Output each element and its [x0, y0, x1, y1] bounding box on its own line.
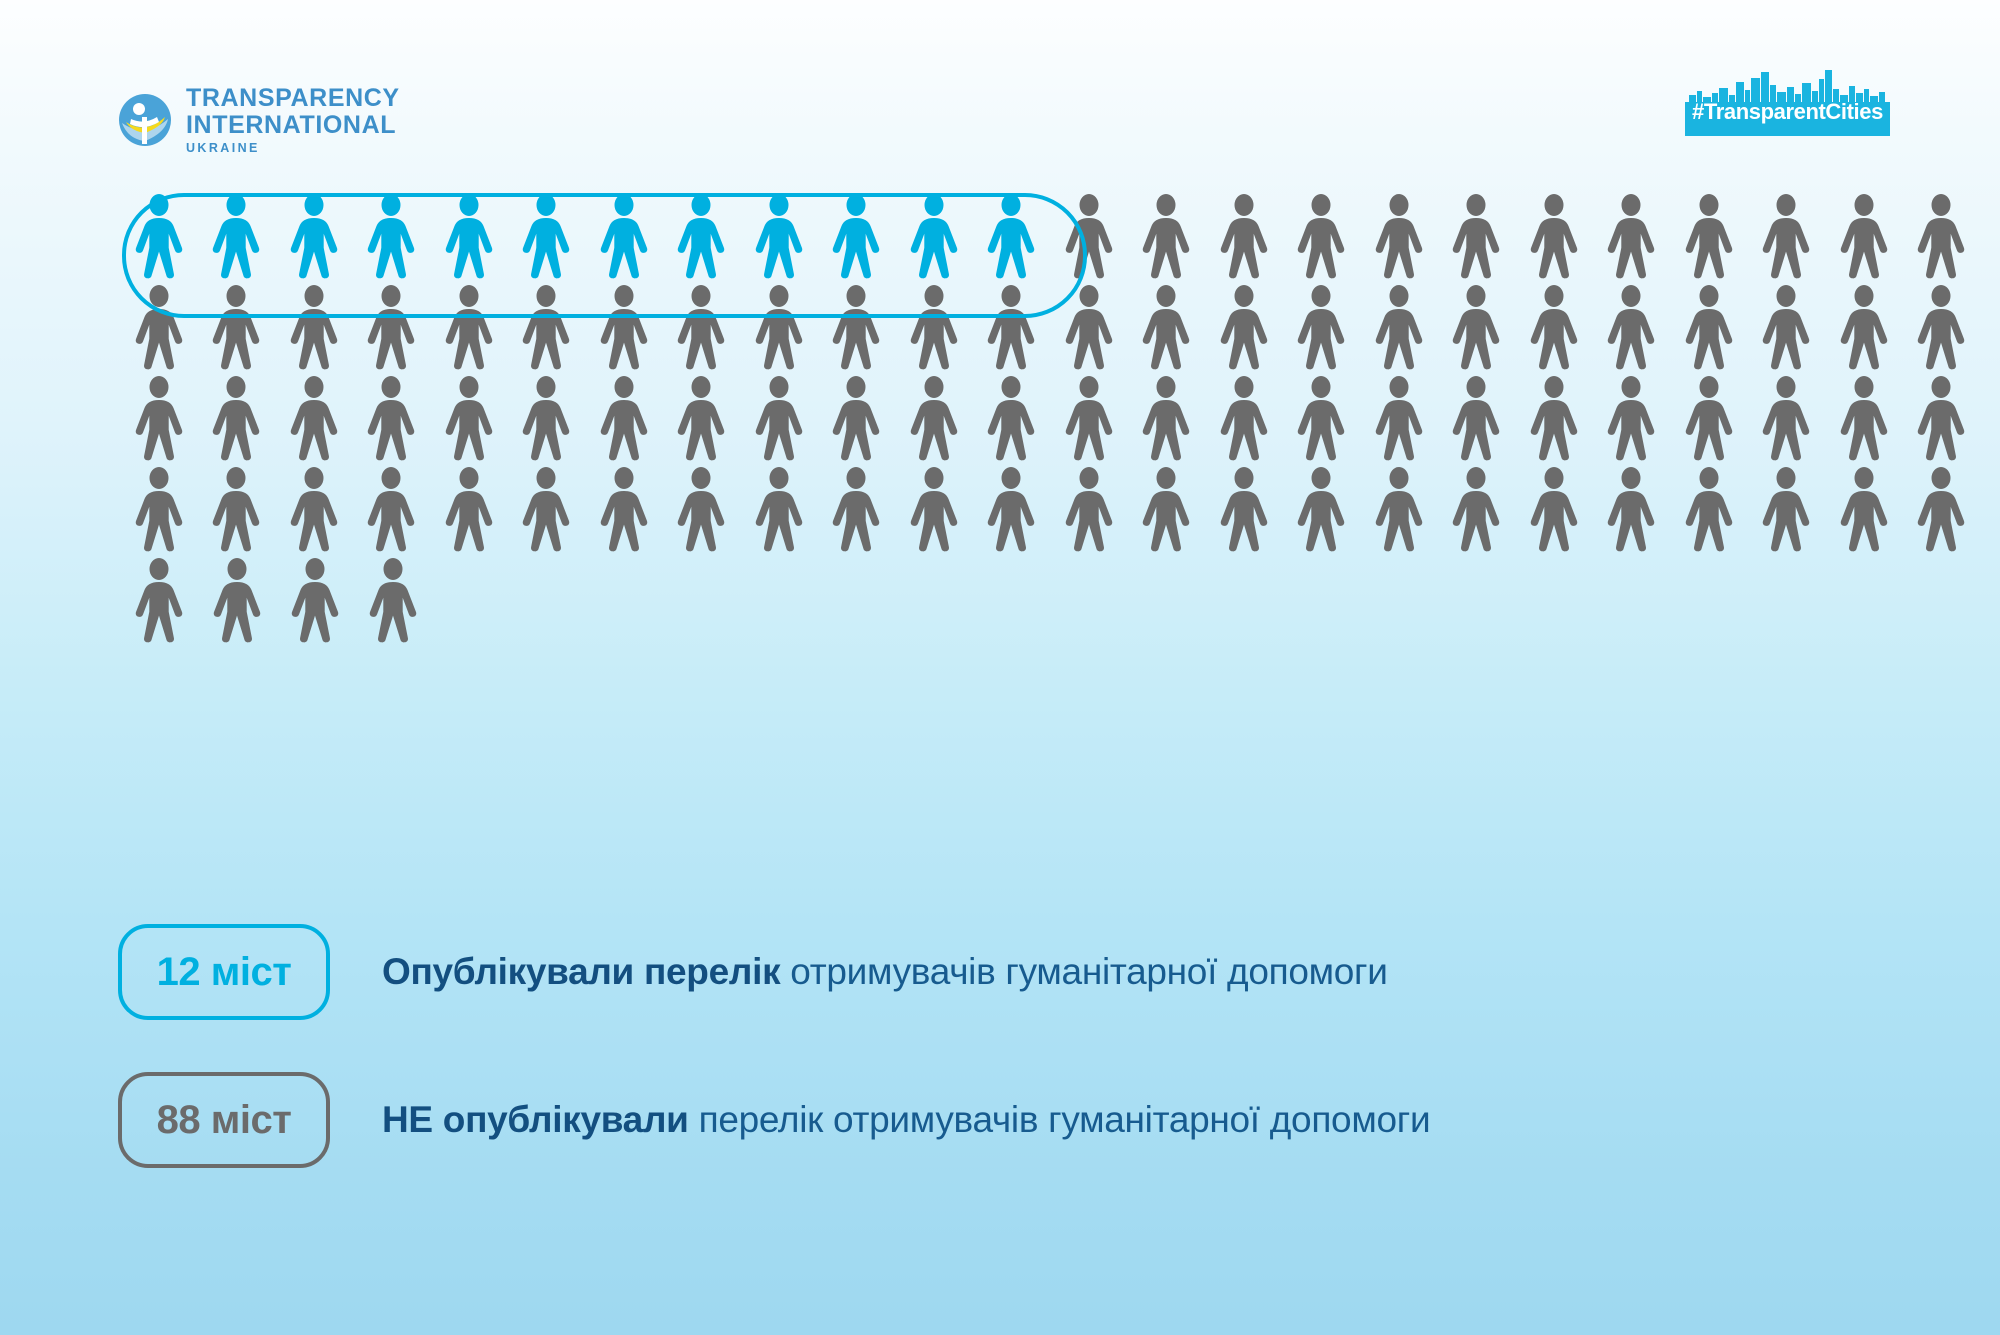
- person-icon-muted: [1205, 276, 1283, 370]
- person-icon-muted: [1593, 367, 1671, 461]
- person-icon-muted: [973, 367, 1051, 461]
- person-icon-muted: [1050, 458, 1128, 552]
- person-icon-muted: [1825, 276, 1903, 370]
- person-icon-muted: [973, 458, 1051, 552]
- person-icon-muted: [1670, 458, 1748, 552]
- person-icon-muted: [1205, 458, 1283, 552]
- person-icon-muted: [1438, 367, 1516, 461]
- person-icon-muted: [895, 458, 973, 552]
- pictogram-row: [120, 367, 1980, 461]
- person-icon-muted: [1283, 276, 1361, 370]
- person-icon-muted: [1438, 276, 1516, 370]
- person-icon-muted: [1670, 367, 1748, 461]
- person-icon-muted: [740, 367, 818, 461]
- person-icon-muted: [1903, 458, 1981, 552]
- legend-label-published-rest: отримувачів гуманітарної допомоги: [780, 951, 1387, 992]
- ti-logo-wordmark: TRANSPARENCY INTERNATIONAL UKRAINE: [186, 86, 400, 155]
- legend-count-published: 12 міст: [118, 924, 330, 1020]
- transparent-cities-badge: #TransparentCities: [1685, 68, 1890, 136]
- person-icon-muted: [1128, 185, 1206, 279]
- legend-label-not-published-rest: перелік отримувачів гуманітарної допомог…: [689, 1099, 1431, 1140]
- person-icon-muted: [508, 458, 586, 552]
- person-icon-muted: [585, 367, 663, 461]
- person-icon-muted: [1825, 367, 1903, 461]
- person-icon-muted: [1748, 276, 1826, 370]
- person-icon-muted: [1438, 458, 1516, 552]
- legend-label-published-bold: Опублікували перелік: [382, 951, 780, 992]
- ti-logo-line2: INTERNATIONAL: [186, 113, 400, 138]
- person-icon-muted: [120, 367, 198, 461]
- person-icon-muted: [1205, 185, 1283, 279]
- person-icon-muted: [1515, 276, 1593, 370]
- person-icon-muted: [1283, 185, 1361, 279]
- ti-logo-line1: TRANSPARENCY: [186, 86, 400, 111]
- person-icon-muted: [1438, 185, 1516, 279]
- person-icon-muted: [1903, 185, 1981, 279]
- highlight-outline: [122, 193, 1087, 318]
- person-icon-muted: [275, 367, 353, 461]
- person-icon-muted: [818, 367, 896, 461]
- legend-item-not-published: 88 міст НЕ опублікували перелік отримува…: [0, 1068, 2000, 1172]
- person-icon-muted: [895, 367, 973, 461]
- person-icon-muted: [663, 458, 741, 552]
- person-icon-muted: [1515, 367, 1593, 461]
- person-icon-muted: [1050, 367, 1128, 461]
- person-icon-muted: [1670, 185, 1748, 279]
- person-icon-muted: [1593, 185, 1671, 279]
- person-icon-muted: [1593, 458, 1671, 552]
- person-icon-muted: [1283, 458, 1361, 552]
- legend-label-not-published-bold: НЕ опублікували: [382, 1099, 689, 1140]
- person-icon-muted: [1128, 276, 1206, 370]
- person-icon-muted: [1825, 185, 1903, 279]
- person-icon-muted: [1128, 367, 1206, 461]
- person-icon-muted: [1360, 367, 1438, 461]
- person-icon-muted: [818, 458, 896, 552]
- person-icon-muted: [1360, 185, 1438, 279]
- person-icon-muted: [1825, 458, 1903, 552]
- legend-count-not-published: 88 міст: [118, 1072, 330, 1168]
- person-icon-muted: [354, 549, 432, 643]
- person-icon-muted: [1128, 458, 1206, 552]
- person-icon-muted: [1515, 458, 1593, 552]
- person-icon-muted: [198, 549, 276, 643]
- person-icon-muted: [1748, 367, 1826, 461]
- person-icon-muted: [1283, 367, 1361, 461]
- legend-item-published: 12 міст Опублікували перелік отримувачів…: [0, 920, 2000, 1024]
- person-icon-muted: [1205, 367, 1283, 461]
- person-icon-muted: [663, 367, 741, 461]
- person-icon-muted: [430, 367, 508, 461]
- person-icon-muted: [1515, 185, 1593, 279]
- person-icon-muted: [1360, 458, 1438, 552]
- person-icon-muted: [198, 458, 276, 552]
- person-icon-muted: [508, 367, 586, 461]
- pictogram-row: [120, 458, 1980, 552]
- pictogram-chart: [0, 185, 2000, 695]
- person-icon-muted: [353, 458, 431, 552]
- pictogram-row: [120, 549, 1980, 643]
- ti-globe-logo-icon: [118, 93, 172, 147]
- person-icon-muted: [1593, 276, 1671, 370]
- person-icon-muted: [1748, 458, 1826, 552]
- person-icon-muted: [120, 549, 198, 643]
- person-icon-muted: [275, 458, 353, 552]
- transparent-cities-label: #TransparentCities: [1685, 99, 1890, 125]
- person-icon-muted: [353, 367, 431, 461]
- person-icon-muted: [198, 367, 276, 461]
- person-icon-muted: [1903, 276, 1981, 370]
- person-icon-muted: [1903, 367, 1981, 461]
- person-icon-muted: [276, 549, 354, 643]
- person-icon-muted: [120, 458, 198, 552]
- page-header: TRANSPARENCY INTERNATIONAL UKRAINE: [0, 0, 2000, 170]
- person-icon-muted: [430, 458, 508, 552]
- chart-legend: 12 міст Опублікували перелік отримувачів…: [0, 920, 2000, 1216]
- person-icon-muted: [585, 458, 663, 552]
- person-icon-muted: [1748, 185, 1826, 279]
- person-icon-muted: [740, 458, 818, 552]
- ti-logo-line3: UKRAINE: [186, 142, 400, 155]
- legend-label-not-published: НЕ опублікували перелік отримувачів гума…: [382, 1099, 1430, 1141]
- person-icon-muted: [1360, 276, 1438, 370]
- person-icon-muted: [1670, 276, 1748, 370]
- legend-label-published: Опублікували перелік отримувачів гуманіт…: [382, 951, 1388, 993]
- transparency-international-logo: TRANSPARENCY INTERNATIONAL UKRAINE: [118, 86, 400, 155]
